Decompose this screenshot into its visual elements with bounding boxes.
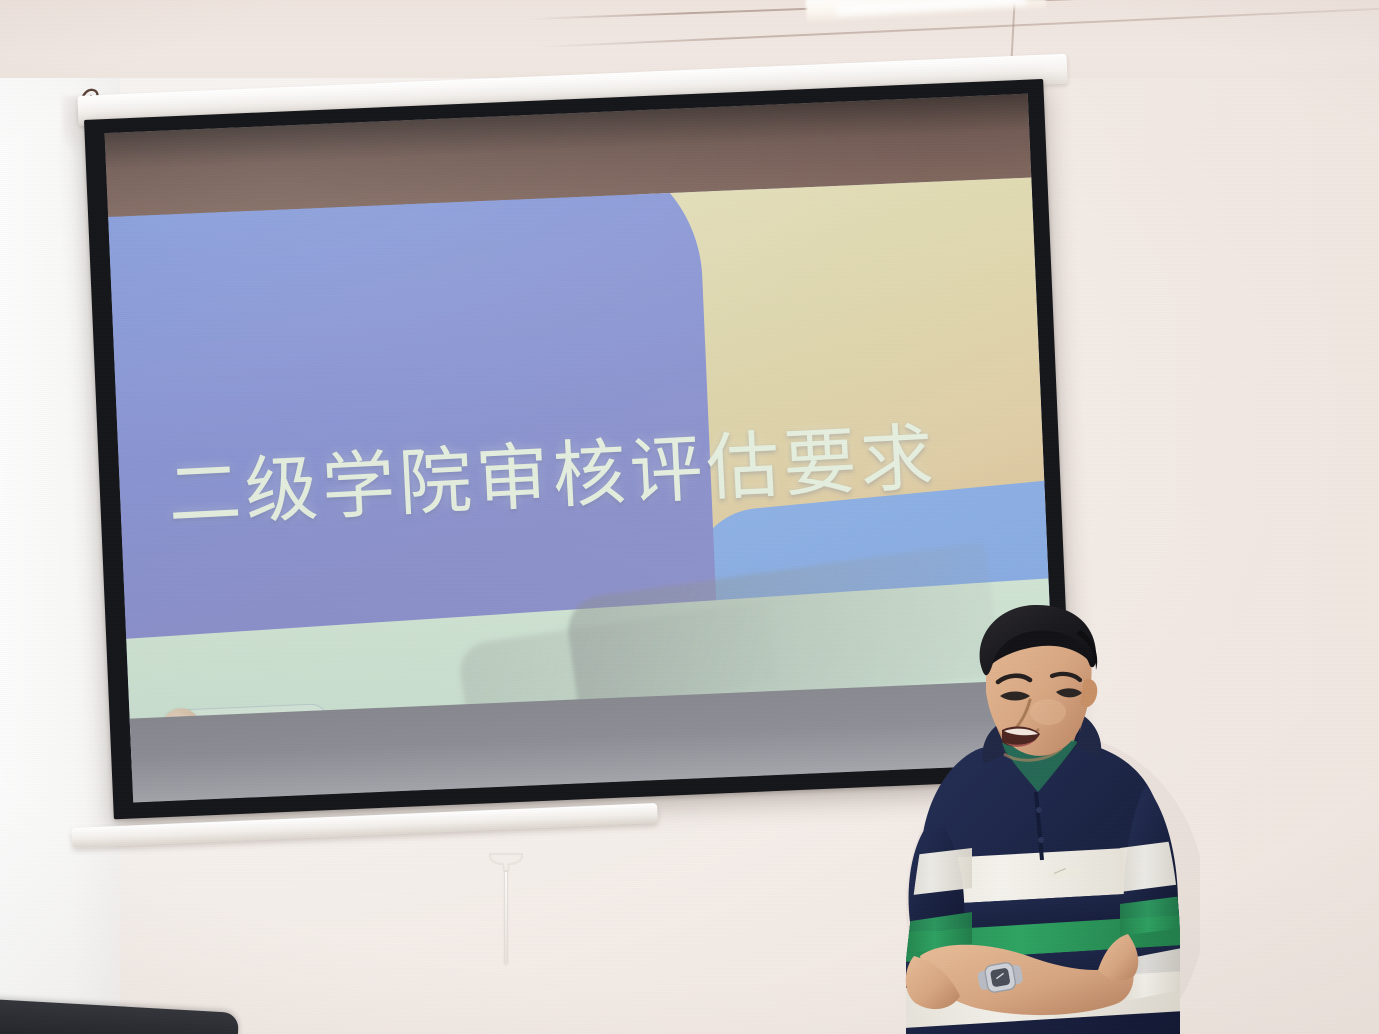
screenshot-root: 二级学院审核评估要求 2023/09/08 <box>0 0 1379 1034</box>
screen-pull-cord[interactable] <box>505 872 507 964</box>
screen-pull-handle[interactable] <box>487 851 525 873</box>
presenter <box>880 604 1200 1034</box>
